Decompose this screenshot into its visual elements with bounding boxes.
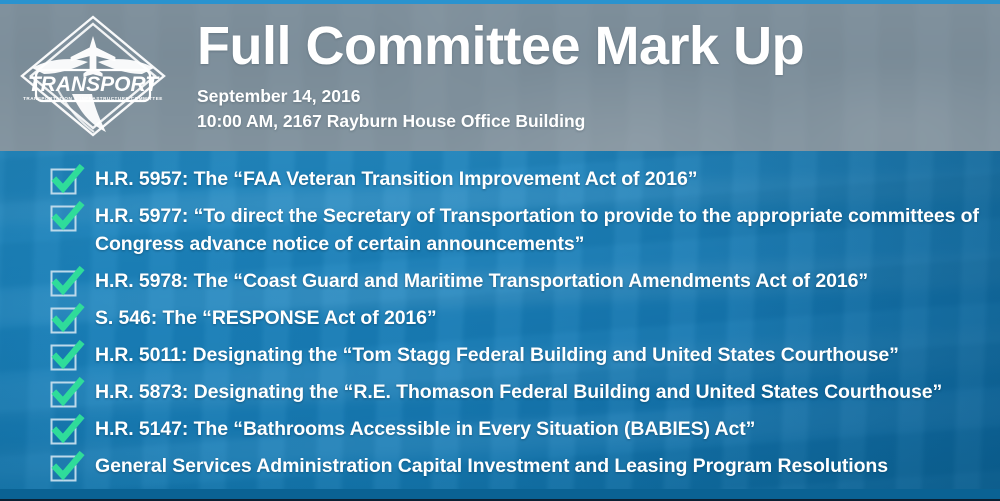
checked-checkbox-icon[interactable] <box>50 343 80 373</box>
list-item[interactable]: General Services Administration Capital … <box>0 452 1000 486</box>
list-item[interactable]: H.R. 5978: The “Coast Guard and Maritime… <box>0 267 1000 301</box>
list-item-label: H.R. 5873: Designating the “R.E. Thomaso… <box>95 378 942 407</box>
checked-checkbox-icon[interactable] <box>50 167 80 197</box>
banner-body: H.R. 5957: The “FAA Veteran Transition I… <box>0 151 1000 501</box>
checked-checkbox-icon[interactable] <box>50 269 80 299</box>
event-date: September 14, 2016 <box>197 84 804 109</box>
list-item-label: H.R. 5011: Designating the “Tom Stagg Fe… <box>95 341 899 370</box>
event-location: 10:00 AM, 2167 Rayburn House Office Buil… <box>197 109 804 134</box>
list-item[interactable]: H.R. 5873: Designating the “R.E. Thomaso… <box>0 378 1000 412</box>
list-item[interactable]: H.R. 5977: “To direct the Secretary of T… <box>0 202 1000 264</box>
list-item-label: H.R. 5147: The “Bathrooms Accessible in … <box>95 415 755 444</box>
page-title: Full Committee Mark Up <box>197 18 804 75</box>
list-item-label: General Services Administration Capital … <box>95 452 888 481</box>
checked-checkbox-icon[interactable] <box>50 204 80 234</box>
logo-tagline: TRANSPORTATION & INFRASTRUCTURE COMMITTE… <box>23 96 163 101</box>
checked-checkbox-icon[interactable] <box>50 380 80 410</box>
top-accent-bar <box>0 0 1000 4</box>
checked-checkbox-icon[interactable] <box>50 417 80 447</box>
list-item[interactable]: H.R. 5957: The “FAA Veteran Transition I… <box>0 165 1000 199</box>
transport-committee-logo[interactable]: TRANSPORT TRANSPORTATION & INFRASTRUCTUR… <box>14 12 172 140</box>
list-item-label: S. 546: The “RESPONSE Act of 2016” <box>95 304 437 333</box>
logo-wordmark: TRANSPORT <box>28 73 160 96</box>
agenda-list: H.R. 5957: The “FAA Veteran Transition I… <box>0 151 1000 486</box>
list-item-label: H.R. 5978: The “Coast Guard and Maritime… <box>95 267 868 296</box>
list-item[interactable]: H.R. 5011: Designating the “Tom Stagg Fe… <box>0 341 1000 375</box>
header-text-block: Full Committee Mark Up September 14, 201… <box>197 18 804 134</box>
checked-checkbox-icon[interactable] <box>50 454 80 484</box>
list-item[interactable]: H.R. 5147: The “Bathrooms Accessible in … <box>0 415 1000 449</box>
list-item-label: H.R. 5957: The “FAA Veteran Transition I… <box>95 165 697 194</box>
list-item[interactable]: S. 546: The “RESPONSE Act of 2016” <box>0 304 1000 338</box>
list-item-label: H.R. 5977: “To direct the Secretary of T… <box>95 202 982 259</box>
event-banner: TRANSPORT TRANSPORTATION & INFRASTRUCTUR… <box>0 0 1000 501</box>
checked-checkbox-icon[interactable] <box>50 306 80 336</box>
